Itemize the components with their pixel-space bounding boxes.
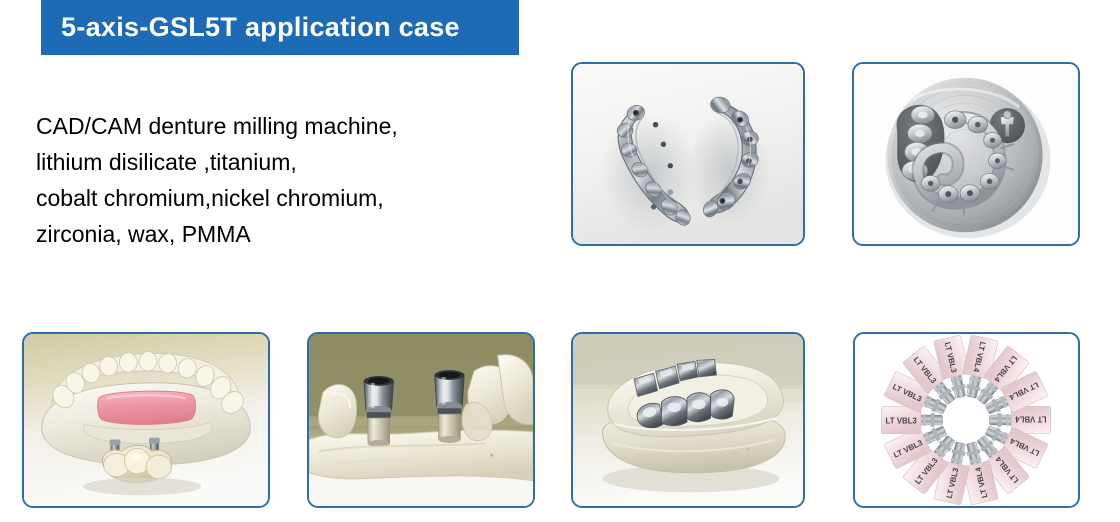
photo-titanium-abutments xyxy=(309,334,533,506)
svg-text:LT VBL4: LT VBL4 xyxy=(1015,415,1047,424)
gallery-panel-metal-crowns-model xyxy=(571,332,805,508)
photo-denture-model xyxy=(24,334,268,506)
gallery-panel-titanium-abutments xyxy=(307,332,535,508)
gallery-panel-lithium-disilicate-blocks: LT VBL4 LT VBL4 xyxy=(853,332,1080,508)
gallery-panel-denture-model-pink-gum xyxy=(22,332,270,508)
page-title: 5-axis-GSL5T application case xyxy=(61,12,460,43)
description-line-4: zirconia, wax, PMMA xyxy=(36,216,536,252)
photo-milling-disc xyxy=(854,64,1078,244)
description-block: CAD/CAM denture milling machine, lithium… xyxy=(36,108,536,252)
title-banner: 5-axis-GSL5T application case xyxy=(41,0,519,55)
gallery-panel-metal-bar-frameworks xyxy=(571,62,805,246)
description-line-3: cobalt chromium,nickel chromium, xyxy=(36,180,536,216)
photo-metal-crowns-model xyxy=(573,334,803,506)
photo-lithium-disilicate-blocks: LT VBL4 LT VBL4 xyxy=(855,334,1078,506)
gallery-panel-milling-disc xyxy=(852,62,1080,246)
svg-text:LT VBL3: LT VBL3 xyxy=(886,416,918,425)
description-line-2: lithium disilicate ,titanium, xyxy=(36,144,536,180)
description-line-1: CAD/CAM denture milling machine, xyxy=(36,108,536,144)
photo-metal-bar-frameworks xyxy=(573,64,803,244)
